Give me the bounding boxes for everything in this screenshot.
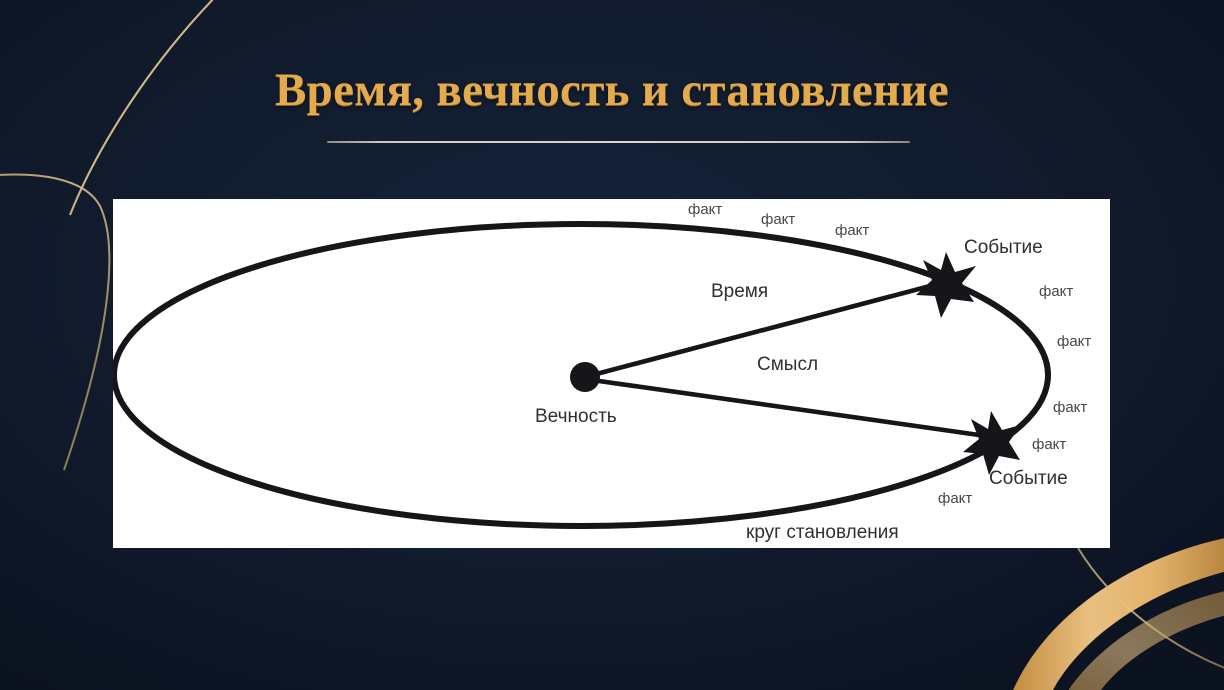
fact-label: факт xyxy=(688,201,722,218)
fact-label: факт xyxy=(1039,283,1073,300)
title-underline-rule xyxy=(327,141,910,143)
fact-label: факт xyxy=(835,222,869,239)
star-event-lower xyxy=(963,411,1021,475)
diagram-caption: круг становления xyxy=(746,522,899,544)
thick-gold-crescent-bottom-right xyxy=(1009,536,1224,690)
thick-gold-crescent-inner xyxy=(1062,588,1224,690)
center-point-eternity xyxy=(570,362,600,392)
center-label-eternity: Вечность xyxy=(535,406,617,428)
slide: Время, вечность и становление факт факт … xyxy=(0,0,1224,690)
fact-label: факт xyxy=(938,490,972,507)
fact-label: факт xyxy=(761,211,795,228)
diagram-panel: факт факт факт факт факт факт факт факт … xyxy=(113,199,1110,548)
ray-label-meaning: Смысл xyxy=(757,354,818,376)
fact-label: факт xyxy=(1032,436,1066,453)
title-block: Время, вечность и становление xyxy=(0,66,1224,116)
event-label-upper: Событие xyxy=(964,237,1043,259)
fact-label: факт xyxy=(1057,333,1091,350)
event-label-lower: Событие xyxy=(989,468,1068,490)
fact-label: факт xyxy=(1053,399,1087,416)
ray-label-time: Время xyxy=(711,281,768,303)
page-title: Время, вечность и становление xyxy=(0,66,1224,116)
thin-arc-bottom-right xyxy=(1078,548,1224,672)
ray-meaning xyxy=(585,379,993,437)
thin-arc-left xyxy=(0,174,109,470)
